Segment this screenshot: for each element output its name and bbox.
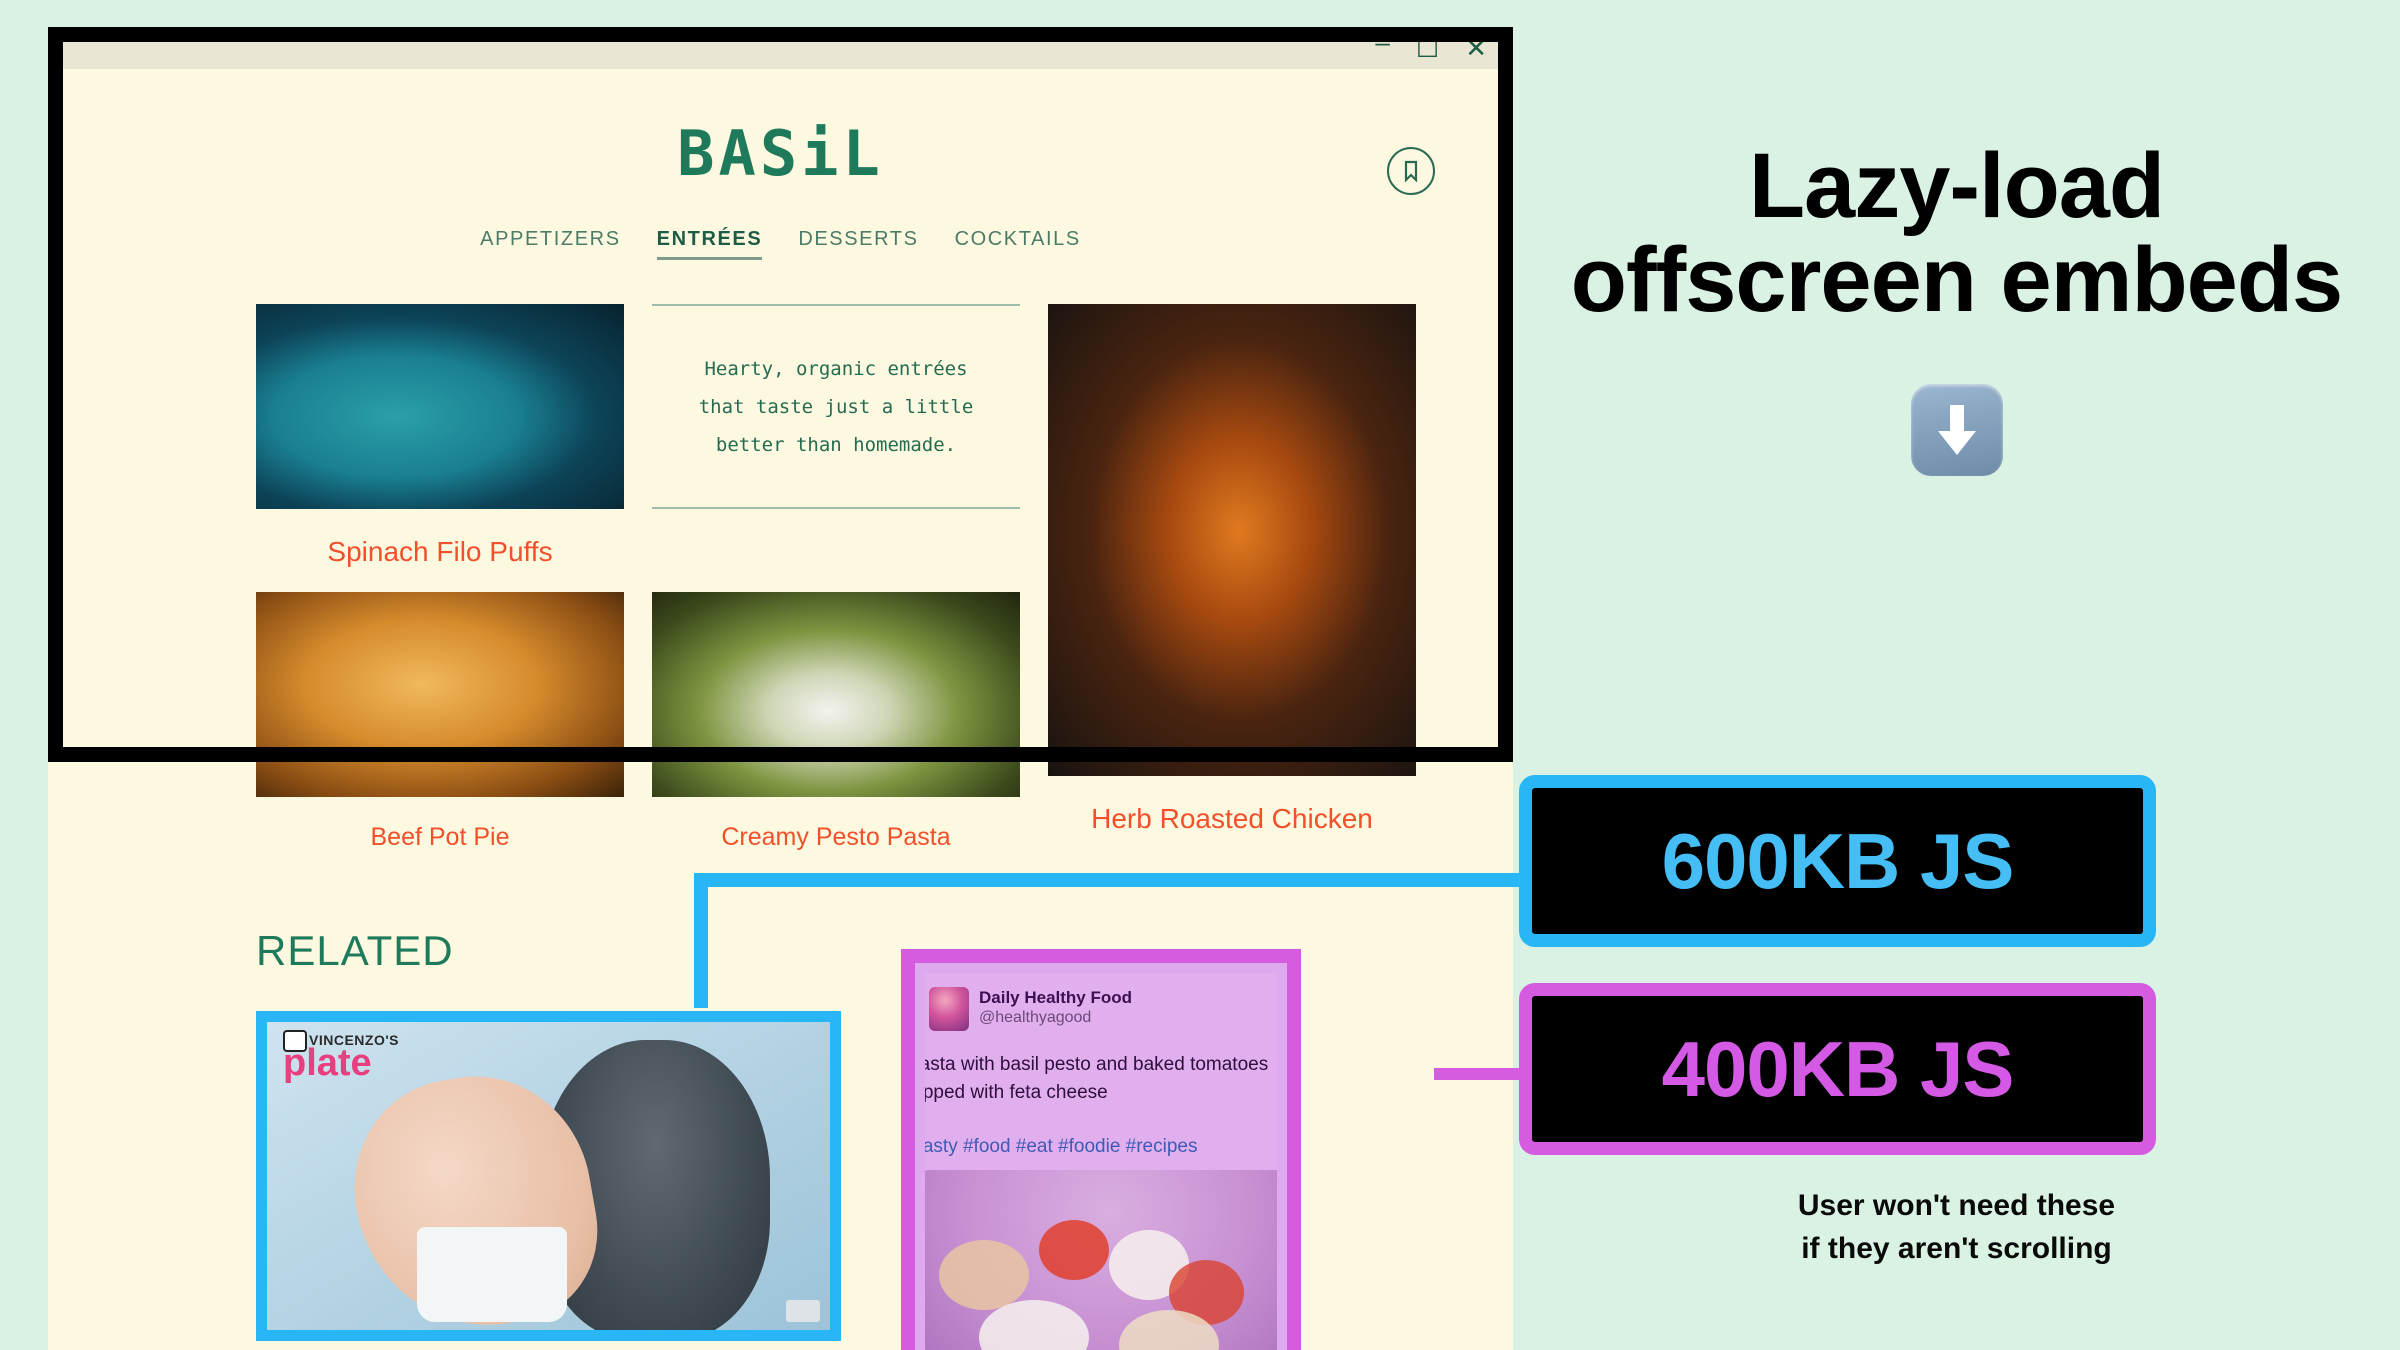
dish-photo — [256, 592, 624, 797]
dish-caption: Creamy Pesto Pasta — [652, 823, 1020, 853]
channel-logo: VINCENZO'S plate — [283, 1032, 399, 1080]
menu-grid: Spinach Filo Puffs Hearty, organic entré… — [48, 304, 1513, 853]
dish-card-beef-pot-pie[interactable]: Beef Pot Pie — [256, 592, 624, 853]
tagline-text: Hearty, organic entrées that taste just … — [699, 350, 974, 464]
tweet-handle: @healthyagood — [979, 1008, 1132, 1029]
bookmark-icon[interactable] — [1387, 147, 1435, 195]
tweet-image — [925, 1170, 1277, 1350]
nav-item-desserts[interactable]: DESSERTS — [798, 228, 918, 260]
annotation-box-400kb: 400KB JS — [1519, 983, 2156, 1155]
maximize-button[interactable]: ☐ — [1416, 35, 1439, 61]
dish-caption: Beef Pot Pie — [256, 823, 624, 853]
site-logo: BASiL — [677, 117, 884, 190]
tagline-panel: Hearty, organic entrées that taste just … — [652, 304, 1020, 509]
down-arrow-icon — [1911, 384, 2003, 476]
nav-item-entrees[interactable]: ENTRÉES — [657, 228, 763, 260]
nav-item-cocktails[interactable]: COCKTAILS — [955, 228, 1081, 260]
youtube-embed[interactable]: VINCENZO'S plate — [256, 1011, 841, 1341]
dish-photo — [652, 592, 1020, 797]
close-button[interactable]: ✕ — [1465, 35, 1487, 61]
dish-card-herb-roasted-chicken[interactable]: Herb Roasted Chicken — [1048, 304, 1416, 853]
site-header: BASiL — [48, 69, 1513, 190]
tweet-card: Daily Healthy Food @healthyagood Pasta w… — [925, 973, 1277, 1350]
annotation-footnote: User won't need these if they aren't scr… — [1513, 1185, 2400, 1270]
dish-caption: Spinach Filo Puffs — [256, 535, 624, 568]
tweet-embed[interactable]: Daily Healthy Food @healthyagood Pasta w… — [901, 949, 1301, 1350]
tweet-author[interactable]: Daily Healthy Food @healthyagood — [925, 987, 1277, 1031]
window-titlebar: – ☐ ✕ — [48, 27, 1513, 69]
dish-photo — [256, 304, 624, 509]
connector-cyan-vertical — [694, 873, 708, 1008]
connector-cyan-horizontal — [694, 873, 1564, 887]
channel-face-icon — [283, 1030, 307, 1052]
tweet-hashtags[interactable]: #tasty #food #eat #foodie #recipes — [925, 1136, 1277, 1158]
annotation-panel: Lazy-load offscreen embeds 600KB JS 400K… — [1513, 0, 2400, 1350]
dish-photo — [1048, 304, 1416, 776]
nav-item-appetizers[interactable]: APPETIZERS — [480, 228, 620, 260]
thumbnail-cup — [417, 1227, 567, 1322]
related-embeds: VINCENZO'S plate Daily Healthy Food @hea… — [48, 1011, 1513, 1350]
site-nav: APPETIZERS ENTRÉES DESSERTS COCKTAILS — [48, 228, 1513, 260]
dish-card-creamy-pesto-pasta[interactable]: Creamy Pesto Pasta — [652, 592, 1020, 853]
related-heading: RELATED — [256, 927, 1513, 975]
tweet-display-name: Daily Healthy Food — [979, 987, 1132, 1008]
dish-card-spinach-filo-puffs[interactable]: Spinach Filo Puffs — [256, 304, 624, 568]
annotation-box-label: 600KB JS — [1662, 816, 2014, 907]
bookmark-glyph — [1401, 160, 1421, 182]
annotation-headline: Lazy-load offscreen embeds — [1553, 140, 2360, 328]
down-arrow-glyph — [1931, 401, 1983, 459]
video-badge — [786, 1300, 820, 1322]
site-body: BASiL APPETIZERS ENTRÉES DESSERTS COCKTA… — [48, 69, 1513, 1350]
annotation-box-600kb: 600KB JS — [1519, 775, 2156, 947]
dish-caption: Herb Roasted Chicken — [1048, 802, 1416, 835]
avatar — [929, 987, 969, 1031]
browser-window: – ☐ ✕ BASiL APPETIZERS ENTRÉES DESSERTS … — [48, 27, 1513, 1350]
annotation-box-label: 400KB JS — [1662, 1024, 2014, 1115]
tweet-text: Pasta with basil pesto and baked tomatoe… — [925, 1051, 1277, 1108]
minimize-button[interactable]: – — [1375, 29, 1389, 55]
